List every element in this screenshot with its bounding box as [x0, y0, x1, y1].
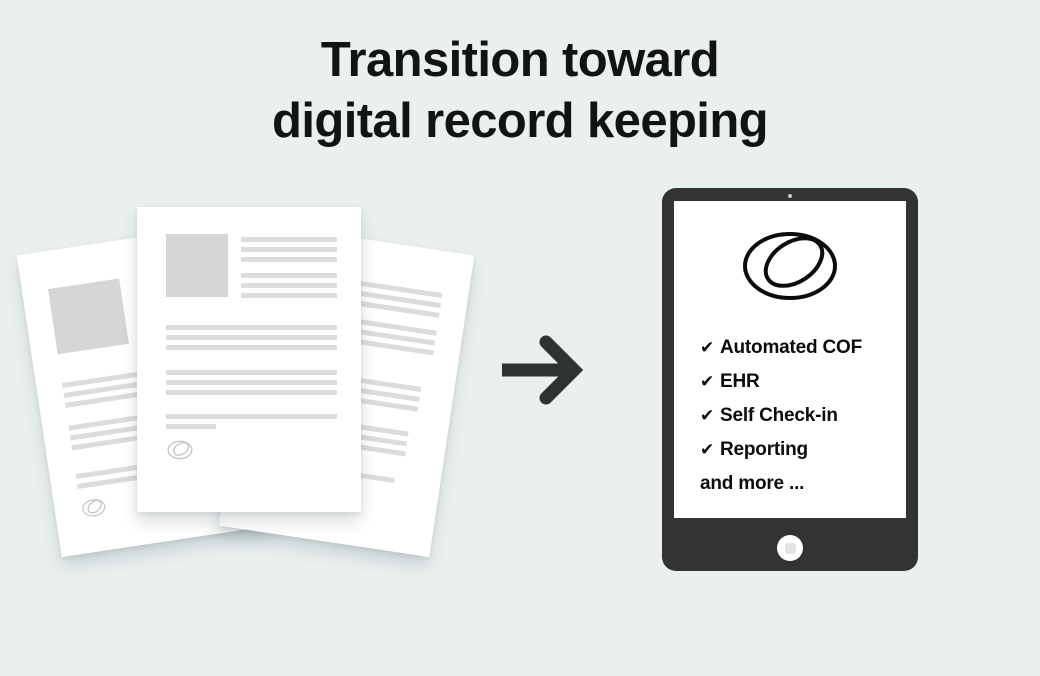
check-icon: ✔	[700, 441, 720, 458]
feature-label: EHR	[720, 371, 760, 393]
feature-label: and more ...	[700, 473, 804, 495]
paper-document-front	[137, 207, 361, 512]
document-text-line	[241, 293, 337, 298]
document-text-line	[166, 414, 337, 419]
tablet-screen: ✔ Automated COF ✔ EHR ✔ Self Check-in ✔ …	[674, 201, 906, 518]
document-text-line	[241, 273, 337, 278]
document-image-placeholder	[48, 279, 129, 355]
document-text-line	[241, 237, 337, 242]
document-text-line	[166, 390, 337, 395]
document-text-line	[241, 247, 337, 252]
document-text-line	[166, 325, 337, 330]
feature-item-self-check-in: ✔ Self Check-in	[700, 405, 900, 439]
document-text-line	[241, 257, 337, 262]
document-text-line	[241, 283, 337, 288]
feature-item-ehr: ✔ EHR	[700, 371, 900, 405]
company-scribble-logo	[166, 438, 194, 467]
arrow-right-icon	[498, 330, 586, 410]
feature-item-reporting: ✔ Reporting	[700, 439, 900, 473]
company-scribble-logo	[738, 223, 842, 305]
document-text-line	[166, 370, 337, 375]
feature-item-and-more: and more ...	[700, 473, 900, 507]
company-scribble-logo	[79, 495, 109, 526]
feature-item-automated-cof: ✔ Automated COF	[700, 337, 900, 371]
document-text-line	[166, 380, 337, 385]
tablet-home-button-inner	[785, 543, 796, 554]
feature-label: Self Check-in	[720, 405, 838, 427]
document-image-placeholder	[166, 234, 228, 297]
document-text-line	[166, 424, 216, 429]
page-title-line-2: digital record keeping	[0, 91, 1040, 152]
check-icon: ✔	[700, 407, 720, 424]
document-text-line	[166, 335, 337, 340]
paper-document-stack	[30, 190, 490, 560]
document-text-line	[166, 345, 337, 350]
check-icon: ✔	[700, 373, 720, 390]
feature-list: ✔ Automated COF ✔ EHR ✔ Self Check-in ✔ …	[700, 337, 900, 507]
slide-canvas: Transition toward digital record keeping	[0, 0, 1040, 676]
page-title: Transition toward digital record keeping	[0, 30, 1040, 152]
tablet-home-button[interactable]	[777, 535, 803, 561]
feature-label: Automated COF	[720, 337, 862, 359]
page-title-line-1: Transition toward	[0, 30, 1040, 91]
tablet-camera-dot	[788, 194, 792, 198]
feature-label: Reporting	[720, 439, 808, 461]
check-icon: ✔	[700, 339, 720, 356]
tablet-device: ✔ Automated COF ✔ EHR ✔ Self Check-in ✔ …	[662, 188, 918, 571]
